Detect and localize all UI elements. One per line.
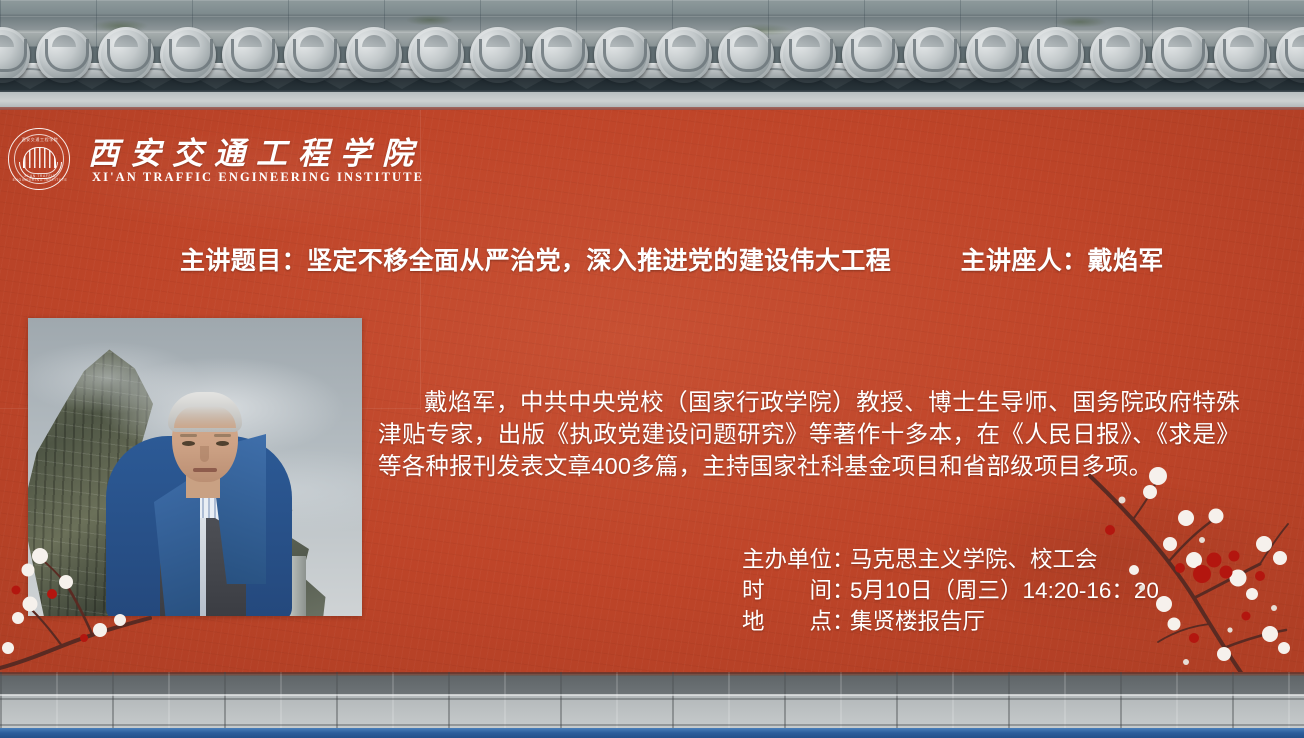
- base-brick-pattern: [0, 672, 1304, 728]
- eave-round-tile: [1214, 27, 1270, 83]
- bottom-blue-strip: [0, 728, 1304, 738]
- lecture-poster: 西安交通工程学院 XI'AN TRAFFIC ENGINEERING INSTI…: [0, 0, 1304, 738]
- seal-top-text: 西安交通工程学院: [9, 137, 71, 143]
- eave-round-tile: [1276, 27, 1304, 83]
- portrait-mouth: [193, 468, 217, 472]
- gray-brick-wall-base: [0, 672, 1304, 728]
- institute-name-cn: 西安交通工程学院: [88, 128, 424, 173]
- event-detail-value: 5月10日（周三）14:20-16：20: [850, 578, 1159, 603]
- eave-round-tile: [36, 27, 92, 83]
- eave-round-tile: [1028, 27, 1084, 83]
- event-detail-row: 地 点：集贤楼报告厅: [742, 606, 1159, 637]
- roof-stone-band: [0, 92, 1304, 112]
- event-detail-label: 主办单位：: [742, 544, 850, 575]
- event-detail-row: 时 间：5月10日（周三）14:20-16：20: [742, 575, 1159, 606]
- eave-round-tile: [966, 27, 1022, 83]
- institute-seal-icon: 西安交通工程学院 XI'AN TRAFFIC ENGINEERING INSTI…: [8, 128, 70, 190]
- eave-round-tile: [718, 27, 774, 83]
- speaker-biography: 戴焰军，中共中央党校（国家行政学院）教授、博士生导师、国务院政府特殊津贴专家，出…: [378, 386, 1240, 482]
- speaker-portrait-photo: [28, 318, 362, 616]
- base-mortar-line: [0, 694, 1304, 696]
- portrait-eyebrow-left: [180, 434, 197, 437]
- institute-name-en: XI'AN TRAFFIC ENGINEERING INSTITUTE: [92, 170, 424, 185]
- eave-round-tile: [780, 27, 836, 83]
- event-details: 主办单位：马克思主义学院、校工会时 间：5月10日（周三）14:20-16：20…: [742, 544, 1159, 637]
- eave-round-tile: [346, 27, 402, 83]
- roof-shadow-band: [0, 78, 1304, 92]
- portrait-eye-right: [216, 441, 229, 446]
- lecture-topic: 主讲题目：坚定不移全面从严治党，深入推进党的建设伟大工程: [180, 247, 891, 275]
- event-detail-value: 马克思主义学院、校工会: [850, 547, 1098, 572]
- eave-round-tile: [284, 27, 340, 83]
- eave-round-tile: [1090, 27, 1146, 83]
- portrait-nose: [200, 446, 209, 462]
- eave-round-tile: [160, 27, 216, 83]
- eave-round-tile: [98, 27, 154, 83]
- eave-round-tile: [222, 27, 278, 83]
- event-detail-row: 主办单位：马克思主义学院、校工会: [742, 544, 1159, 575]
- event-detail-value: 集贤楼报告厅: [850, 609, 985, 634]
- event-detail-label: 地 点：: [742, 606, 850, 637]
- chinese-tiled-roof-eaves: [0, 0, 1304, 112]
- lecture-speaker: 主讲座人：戴焰军: [961, 247, 1164, 275]
- eave-round-tile: [470, 27, 526, 83]
- portrait-eyebrow-right: [214, 434, 231, 437]
- event-detail-label: 时 间：: [742, 575, 850, 606]
- eave-round-tile: [1152, 27, 1208, 83]
- eave-round-tile: [904, 27, 960, 83]
- eave-round-tile: [532, 27, 588, 83]
- institute-logo: 西安交通工程学院 XI'AN TRAFFIC ENGINEERING INSTI…: [0, 126, 400, 196]
- eave-round-tile: [656, 27, 712, 83]
- seal-bottom-text: XI'AN TRAFFIC ENGINEERING INSTITUTE: [9, 174, 71, 182]
- poster-headline: 主讲题目：坚定不移全面从严治党，深入推进党的建设伟大工程 主讲座人：戴焰军: [180, 241, 1190, 277]
- eave-round-tile: [408, 27, 464, 83]
- eave-round-tile: [594, 27, 650, 83]
- eave-round-tile: [842, 27, 898, 83]
- portrait-eye-left: [182, 441, 195, 446]
